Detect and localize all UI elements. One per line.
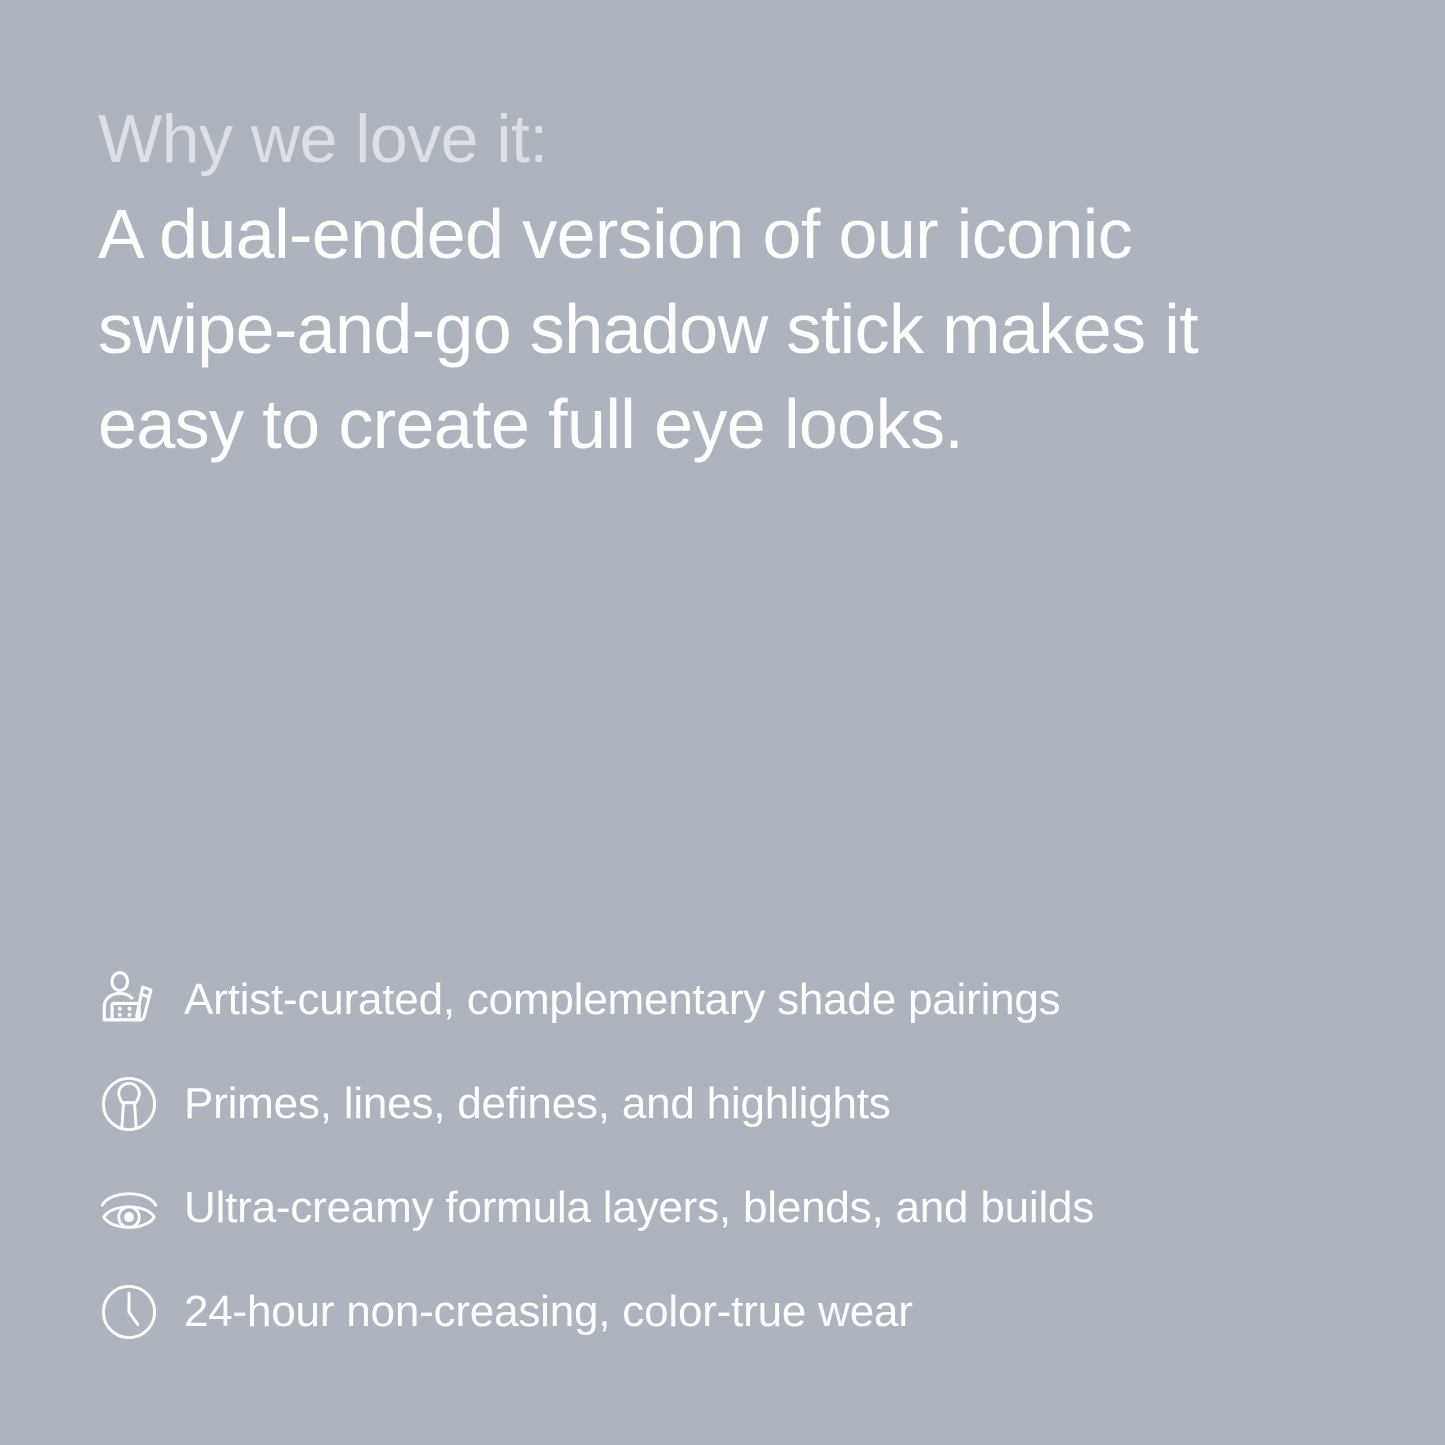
benefit-item-artist-curated: Artist-curated, complementary shade pair… — [98, 948, 1358, 1052]
copy-block: Why we love it: A dual-ended version of … — [98, 92, 1368, 472]
benefits-list: Artist-curated, complementary shade pair… — [98, 948, 1358, 1364]
clock-icon — [98, 1276, 170, 1348]
benefit-item-24-hour-wear: 24-hour non-creasing, color-true wear — [98, 1260, 1358, 1364]
lead-paragraph: A dual-ended version of our iconic swipe… — [98, 187, 1348, 472]
benefit-item-ultra-creamy: Ultra-creamy formula layers, blends, and… — [98, 1156, 1358, 1260]
brush-in-circle-icon — [98, 1068, 170, 1140]
product-benefits-card: Why we love it: A dual-ended version of … — [0, 0, 1445, 1445]
benefit-label: Primes, lines, defines, and highlights — [184, 1078, 891, 1130]
eyebrow-heading: Why we love it: — [98, 92, 1368, 187]
benefit-item-primes-lines: Primes, lines, defines, and highlights — [98, 1052, 1358, 1156]
benefit-label: Artist-curated, complementary shade pair… — [184, 974, 1061, 1026]
eye-icon — [98, 1172, 170, 1244]
artist-palette-brush-icon — [98, 964, 170, 1036]
benefit-label: 24-hour non-creasing, color-true wear — [184, 1286, 913, 1338]
benefit-label: Ultra-creamy formula layers, blends, and… — [184, 1182, 1094, 1234]
